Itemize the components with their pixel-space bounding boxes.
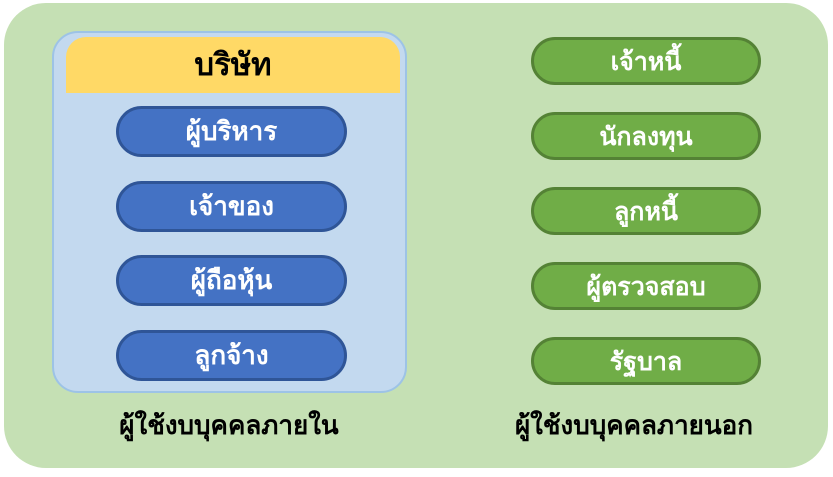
external-item-label: ลูกหนี้ (614, 199, 678, 224)
external-item-investor[interactable]: นักลงทุน (531, 112, 761, 160)
internal-item-label: เจ้าของ (189, 194, 274, 220)
internal-item-shareholder[interactable]: ผู้ถือหุ้น (116, 255, 347, 306)
external-item-label: เจ้าหนี้ (611, 49, 682, 74)
company-header-label: บริษัท (194, 50, 271, 81)
internal-item-label: ผู้บริหาร (186, 119, 277, 145)
internal-users-caption: ผู้ใช้งบบุคคลภายใน (44, 413, 414, 439)
external-item-label: ผู้ตรวจสอบ (586, 274, 705, 299)
external-item-label: รัฐบาล (610, 349, 682, 374)
internal-item-employee[interactable]: ลูกจ้าง (116, 330, 347, 381)
internal-item-label: ผู้ถือหุ้น (191, 268, 273, 294)
external-item-government[interactable]: รัฐบาล (531, 337, 761, 385)
external-item-auditor[interactable]: ผู้ตรวจสอบ (531, 262, 761, 310)
company-header-banner: บริษัท (66, 37, 400, 93)
external-item-label: นักลงทุน (599, 124, 692, 149)
external-item-debtor[interactable]: ลูกหนี้ (531, 187, 761, 235)
internal-item-executive[interactable]: ผู้บริหาร (116, 106, 347, 157)
external-item-creditor[interactable]: เจ้าหนี้ (531, 37, 761, 85)
internal-item-label: ลูกจ้าง (194, 343, 268, 369)
external-users-caption: ผู้ใช้งบบุคคลภายนอก (464, 413, 804, 439)
diagram-canvas: บริษัท ผู้บริหาร เจ้าของ ผู้ถือหุ้น ลูกจ… (0, 0, 833, 477)
outer-green-panel: บริษัท ผู้บริหาร เจ้าของ ผู้ถือหุ้น ลูกจ… (4, 3, 828, 468)
internal-item-owner[interactable]: เจ้าของ (116, 181, 347, 232)
